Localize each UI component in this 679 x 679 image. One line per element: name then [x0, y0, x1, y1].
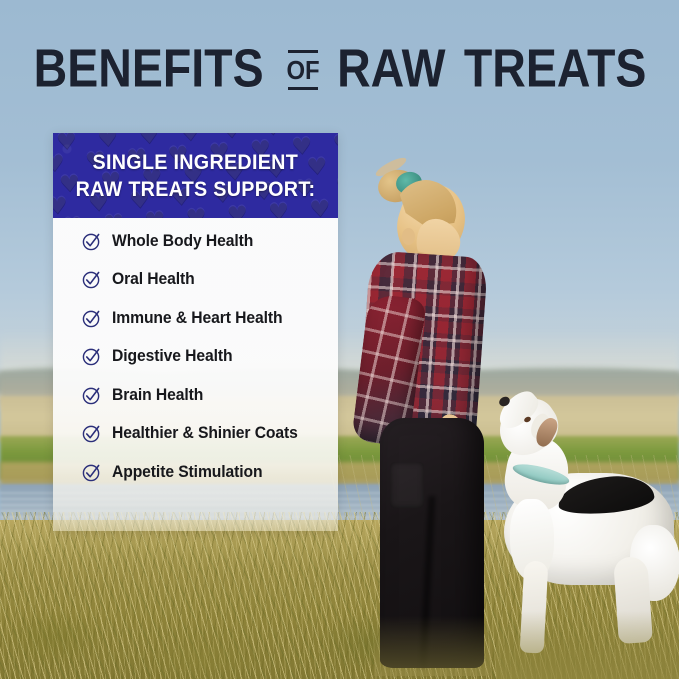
check-circle-icon: [82, 424, 101, 443]
list-item-label: Brain Health: [112, 386, 203, 405]
list-item-label: Oral Health: [112, 270, 195, 289]
check-circle-icon: [82, 347, 101, 366]
list-item: Digestive Health: [53, 340, 338, 374]
list-item: Appetite Stimulation: [53, 455, 338, 489]
grass-occlusion: [496, 611, 679, 679]
list-item: Immune & Heart Health: [53, 301, 338, 335]
cargo-pocket: [390, 462, 424, 508]
list-item-label: Digestive Health: [112, 347, 232, 366]
infographic-poster: BENEFITS OF RAW TREATS ♥ ♥ ♥ ♥ ♥ ♥ ♥ ♥ ♥…: [0, 0, 679, 679]
ear: [402, 228, 415, 245]
check-circle-icon: [82, 309, 101, 328]
list-item-label: Healthier & Shinier Coats: [112, 424, 298, 443]
check-circle-icon: [82, 232, 101, 251]
title-connector-of: OF: [285, 50, 321, 90]
panel-header-line2: RAW TREATS SUPPORT:: [76, 177, 316, 202]
list-item: Healthier & Shinier Coats: [53, 417, 338, 451]
list-item-label: Immune & Heart Health: [112, 309, 282, 328]
title-word-treats: TREATS: [464, 41, 647, 95]
list-item-label: Whole Body Health: [112, 232, 253, 251]
check-circle-icon: [82, 270, 101, 289]
list-item: Whole Body Health: [53, 224, 338, 258]
benefits-panel-header: ♥ ♥ ♥ ♥ ♥ ♥ ♥ ♥ ♥ ♥ ♥ ♥ ♥ ♥ ♥ ♥ ♥ ♥ ♥ ♥ …: [53, 133, 338, 218]
check-circle-icon: [82, 463, 101, 482]
page-title: BENEFITS OF RAW TREATS: [0, 38, 679, 98]
title-word-raw: RAW: [337, 41, 445, 95]
list-item: Oral Health: [53, 263, 338, 297]
panel-header-line1: SINGLE INGREDIENT: [93, 150, 299, 175]
check-circle-icon: [82, 386, 101, 405]
list-item-label: Appetite Stimulation: [112, 463, 263, 482]
benefits-list: Whole Body Health Oral Health Immune & H…: [53, 224, 338, 494]
dog-figure: [470, 395, 679, 679]
benefits-panel-header-text: SINGLE INGREDIENT RAW TREATS SUPPORT:: [53, 133, 338, 218]
of-rule-bottom: [288, 87, 318, 90]
list-item: Brain Health: [53, 378, 338, 412]
title-word-benefits: BENEFITS: [34, 41, 264, 95]
of-text: OF: [286, 53, 319, 87]
